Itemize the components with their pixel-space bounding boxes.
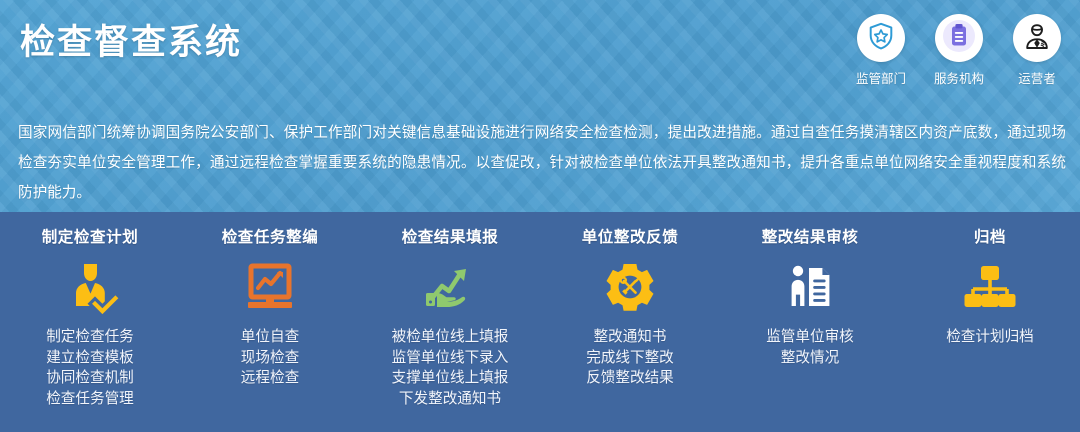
- list-item: 制定检查任务: [46, 327, 134, 348]
- list-item: 支撑单位线上填报: [392, 368, 509, 389]
- step-item-list: 检查计划归档: [946, 327, 1034, 348]
- role-icon-circle: [1013, 14, 1061, 62]
- gear-tools-icon: [599, 259, 661, 317]
- operator-person-icon: [1021, 20, 1053, 57]
- hero-section: 检查督查系统 监管部门: [0, 0, 1080, 212]
- list-item: 整改情况: [781, 348, 839, 369]
- list-item: 被检单位线上填报: [392, 327, 509, 348]
- list-item: 完成线下整改: [586, 348, 674, 369]
- hand-growth-arrow-icon: [419, 259, 481, 317]
- role-icon-circle: [857, 14, 905, 62]
- workflow-steps-band: 制定检查计划 制定检查任务 建立检查模板 协同检查机制 检查任务管理 检查任务整…: [0, 212, 1080, 432]
- role-item-service-org[interactable]: 服务机构: [928, 14, 990, 87]
- page-title: 检查督查系统: [20, 21, 242, 65]
- inspection-supervision-banner: 检查督查系统 监管部门: [0, 0, 1080, 432]
- clipboard-icon: [940, 17, 978, 60]
- hierarchy-archive-icon: [959, 259, 1021, 317]
- step-title: 制定检查计划: [42, 225, 139, 247]
- list-item: 反馈整改结果: [586, 368, 674, 389]
- list-item: 整改通知书: [594, 327, 667, 348]
- list-item: 监管单位线下录入: [392, 348, 509, 369]
- step-title: 检查结果填报: [402, 225, 499, 247]
- step-title: 单位整改反馈: [582, 225, 679, 247]
- person-document-icon: [779, 259, 841, 317]
- role-item-operator[interactable]: 运营者: [1006, 14, 1068, 87]
- list-item: 建立检查模板: [46, 348, 134, 369]
- role-item-regulator[interactable]: 监管部门: [850, 14, 912, 87]
- step-archiving[interactable]: 归档 检查计划归档: [900, 212, 1080, 432]
- step-item-list: 被检单位线上填报 监管单位线下录入 支撑单位线上填报 下发整改通知书: [392, 327, 509, 409]
- person-check-icon: [59, 259, 121, 317]
- step-item-list: 整改通知书 完成线下整改 反馈整改结果: [586, 327, 674, 389]
- step-plan-creation[interactable]: 制定检查计划 制定检查任务 建立检查模板 协同检查机制 检查任务管理: [0, 212, 180, 432]
- role-icon-circle: [935, 14, 983, 62]
- list-item: 现场检查: [241, 348, 299, 369]
- step-title: 归档: [974, 225, 1006, 247]
- step-unit-rectification-feedback[interactable]: 单位整改反馈 整改通知书 完成线下整改 反馈整改结果: [540, 212, 720, 432]
- role-label: 运营者: [1018, 68, 1056, 87]
- step-item-list: 单位自查 现场检查 远程检查: [241, 327, 299, 389]
- step-result-reporting[interactable]: 检查结果填报 被检单位线上填报 监管单位线下录入 支撑单位线上填报 下发整改通知…: [360, 212, 540, 432]
- role-label: 服务机构: [934, 68, 984, 87]
- monitor-chart-icon: [239, 259, 301, 317]
- step-item-list: 监管单位审核 整改情况: [766, 327, 854, 368]
- role-label: 监管部门: [856, 68, 906, 87]
- list-item: 远程检查: [241, 368, 299, 389]
- list-item: 检查任务管理: [46, 389, 134, 410]
- step-rectification-review[interactable]: 整改结果审核 监管单位审核 整改情况: [720, 212, 900, 432]
- list-item: 下发整改通知书: [399, 389, 501, 410]
- list-item: 检查计划归档: [946, 327, 1034, 348]
- step-title: 检查任务整编: [222, 225, 319, 247]
- step-task-compilation[interactable]: 检查任务整编 单位自查 现场检查 远程检查: [180, 212, 360, 432]
- list-item: 单位自查: [241, 327, 299, 348]
- step-item-list: 制定检查任务 建立检查模板 协同检查机制 检查任务管理: [46, 327, 134, 409]
- intro-paragraph: 国家网信部门统筹协调国务院公安部门、保护工作部门对关键信息基础设施进行网络安全检…: [18, 118, 1066, 208]
- shield-star-icon: [866, 21, 896, 56]
- list-item: 协同检查机制: [46, 368, 134, 389]
- role-icon-group: 监管部门 服务机构: [850, 14, 1068, 87]
- list-item: 监管单位审核: [766, 327, 854, 348]
- step-title: 整改结果审核: [762, 225, 859, 247]
